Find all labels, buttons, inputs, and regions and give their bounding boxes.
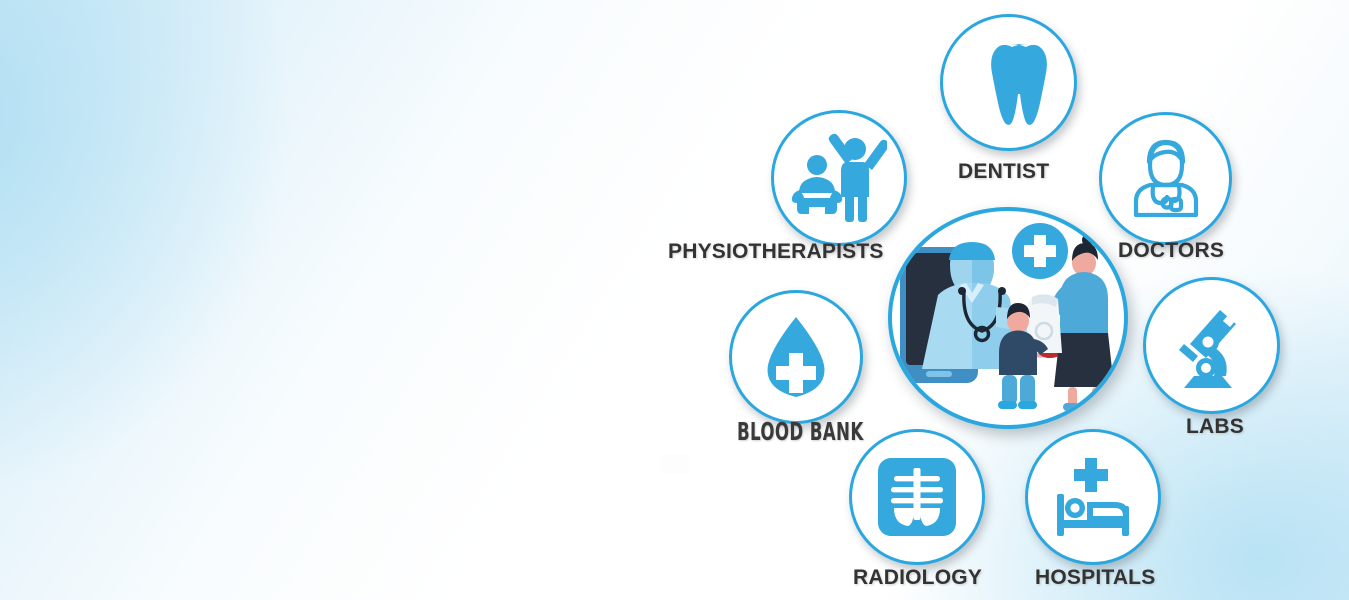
tooth-icon: [970, 40, 1048, 126]
label-dentist: DENTIST: [958, 160, 1049, 184]
background-artifact-secondary: [660, 455, 690, 473]
label-hospitals: HOSPITALS: [1035, 566, 1155, 590]
xray-ribcage-icon: [874, 454, 960, 540]
doctor-icon: [1120, 135, 1212, 223]
label-doctors: DOCTORS: [1118, 239, 1224, 263]
microscope-icon: [1168, 302, 1256, 390]
hospital-bed-icon: [1047, 454, 1139, 540]
exercise-figures-icon: [791, 132, 887, 224]
blood-drop-icon: [759, 313, 833, 401]
label-radiology: RADIOLOGY: [853, 566, 982, 590]
label-blood-bank: BLOOD BANK: [737, 417, 864, 446]
background-artifact: [660, 330, 692, 470]
diagram-canvas: DENTIST DOCTORS: [0, 0, 1349, 600]
label-labs: LABS: [1186, 415, 1244, 439]
telemedicine-illustration: [892, 211, 1124, 425]
label-physiotherapists: PHYSIOTHERAPISTS: [668, 240, 884, 264]
